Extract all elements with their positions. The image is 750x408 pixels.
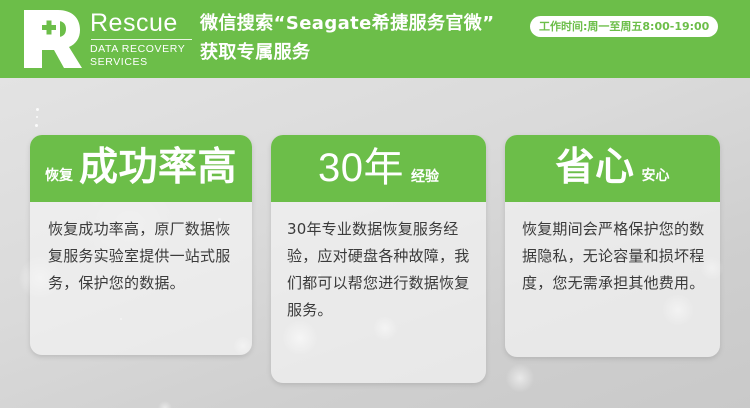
card-header: 恢复 成功率高 bbox=[30, 135, 252, 202]
header-message: 微信搜索“Seagate希捷服务官微” 获取专属服务 bbox=[200, 9, 494, 67]
working-hours-badge: 工作时间:周一至周五8:00-19:00 bbox=[530, 16, 718, 37]
feature-card-peace-of-mind: 省心 安心 恢复期间会严格保护您的数据隐私，无论容量和损坏程度，您无需承担其他费… bbox=[505, 135, 720, 357]
brand-text: Rescue DATA RECOVERY SERVICES bbox=[90, 10, 194, 68]
brand-sub-line1: DATA RECOVERY bbox=[90, 43, 194, 56]
card-head-suffix: 经验 bbox=[411, 169, 439, 185]
card-head-prefix: 恢复 bbox=[45, 168, 73, 184]
card-head-title: 省心 bbox=[555, 147, 634, 189]
card-head-title: 成功率高 bbox=[79, 147, 237, 189]
card-body-text: 恢复成功率高，原厂数据恢复服务实验室提供一站式服务，保护您的数据。 bbox=[30, 202, 252, 309]
card-body-text: 恢复期间会严格保护您的数据隐私，无论容量和损坏程度，您无需承担其他费用。 bbox=[505, 202, 720, 309]
card-head-title: 30年 bbox=[318, 147, 404, 189]
rescue-cross-r-logo-icon bbox=[22, 8, 84, 70]
feature-card-success-rate: 恢复 成功率高 恢复成功率高，原厂数据恢复服务实验室提供一站式服务，保护您的数据… bbox=[30, 135, 252, 355]
brand-divider bbox=[91, 39, 192, 40]
card-head-suffix: 安心 bbox=[642, 168, 670, 184]
card-body-text: 30年专业数据恢复服务经验，应对硬盘各种故障，我们都可以帮您进行数据恢复服务。 bbox=[271, 202, 486, 336]
promo-banner: Rescue DATA RECOVERY SERVICES 微信搜索“Seaga… bbox=[0, 0, 750, 408]
header-message-line2: 获取专属服务 bbox=[200, 38, 494, 67]
feature-card-experience: 30年 经验 30年专业数据恢复服务经验，应对硬盘各种故障，我们都可以帮您进行数… bbox=[271, 135, 486, 383]
feature-cards: 恢复 成功率高 恢复成功率高，原厂数据恢复服务实验室提供一站式服务，保护您的数据… bbox=[0, 78, 750, 408]
brand-logo: Rescue DATA RECOVERY SERVICES bbox=[22, 6, 190, 72]
header-message-line1: 微信搜索“Seagate希捷服务官微” bbox=[200, 13, 494, 34]
card-header: 省心 安心 bbox=[505, 135, 720, 202]
brand-sub-line2: SERVICES bbox=[90, 56, 194, 69]
header-band: Rescue DATA RECOVERY SERVICES 微信搜索“Seaga… bbox=[0, 0, 750, 78]
card-header: 30年 经验 bbox=[271, 135, 486, 202]
brand-name: Rescue bbox=[90, 10, 194, 37]
